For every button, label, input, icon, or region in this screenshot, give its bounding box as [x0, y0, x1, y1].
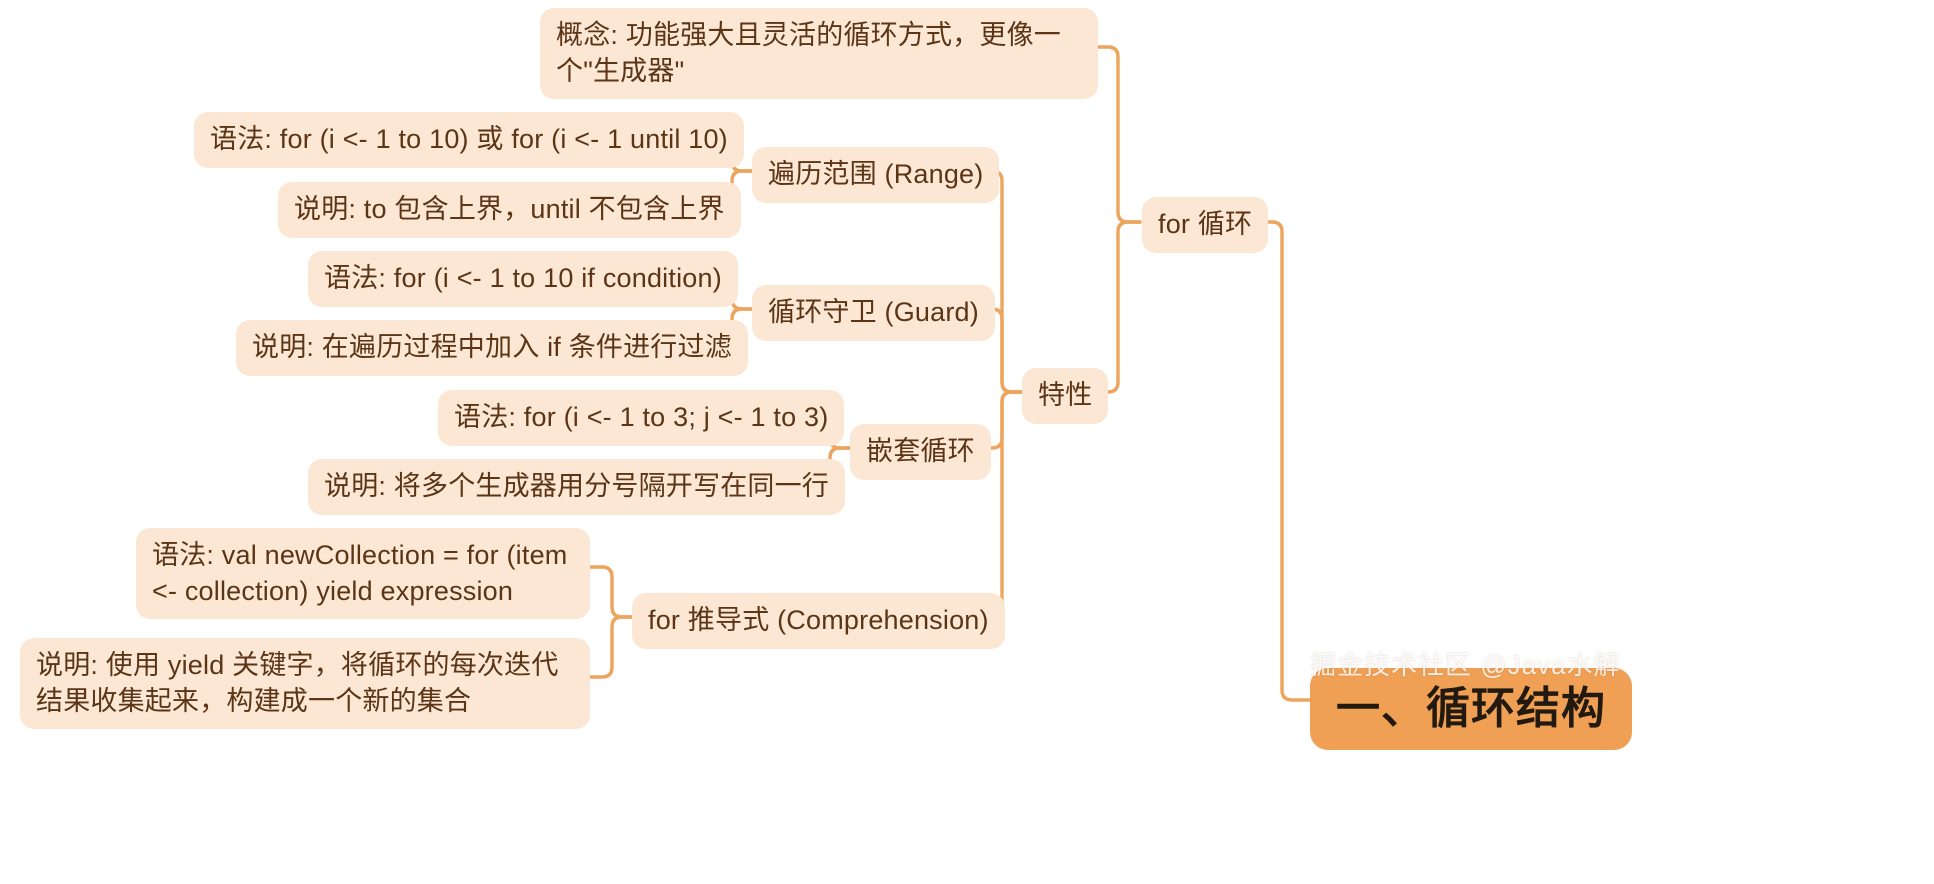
node-concept[interactable]: 概念: 功能强大且灵活的循环方式，更像一个"生成器": [540, 8, 1098, 99]
node-concept-label: 概念: 功能强大且灵活的循环方式，更像一个"生成器": [556, 18, 1082, 89]
node-range-syntax[interactable]: 语法: for (i <- 1 to 10) 或 for (i <- 1 unt…: [194, 112, 744, 168]
node-features-label: 特性: [1038, 378, 1092, 414]
node-guard-syntax-label: 语法: for (i <- 1 to 10 if condition): [324, 261, 722, 297]
node-comprehension-note-label: 说明: 使用 yield 关键字，将循环的每次迭代结果收集起来，构建成一个新的集…: [36, 648, 574, 719]
node-nested-note-label: 说明: 将多个生成器用分号隔开写在同一行: [324, 469, 829, 505]
node-nested-syntax[interactable]: 语法: for (i <- 1 to 3; j <- 1 to 3): [438, 390, 844, 446]
node-comprehension-label: for 推导式 (Comprehension): [648, 603, 989, 639]
node-comprehension-syntax[interactable]: 语法: val newCollection = for (item <- col…: [136, 528, 590, 619]
node-guard-syntax[interactable]: 语法: for (i <- 1 to 10 if condition): [308, 251, 738, 307]
node-for-loop-label: for 循环: [1158, 207, 1252, 243]
node-guard[interactable]: 循环守卫 (Guard): [752, 285, 995, 341]
node-guard-note[interactable]: 说明: 在遍历过程中加入 if 条件进行过滤: [236, 320, 748, 376]
node-for-loop[interactable]: for 循环: [1142, 197, 1268, 253]
node-comprehension[interactable]: for 推导式 (Comprehension): [632, 593, 1005, 649]
node-range-label: 遍历范围 (Range): [768, 157, 983, 193]
node-nested-syntax-label: 语法: for (i <- 1 to 3; j <- 1 to 3): [454, 400, 828, 436]
node-range[interactable]: 遍历范围 (Range): [752, 147, 999, 203]
node-nested-note[interactable]: 说明: 将多个生成器用分号隔开写在同一行: [308, 459, 845, 515]
node-features[interactable]: 特性: [1022, 368, 1108, 424]
mindmap-canvas: 一、循环结构 掘金技术社区 @Java水解 for 循环 概念: 功能强大且灵活…: [0, 0, 1934, 884]
node-comprehension-note[interactable]: 说明: 使用 yield 关键字，将循环的每次迭代结果收集起来，构建成一个新的集…: [20, 638, 590, 729]
node-guard-label: 循环守卫 (Guard): [768, 295, 979, 331]
node-range-syntax-label: 语法: for (i <- 1 to 10) 或 for (i <- 1 unt…: [210, 122, 728, 158]
root-node-label: 一、循环结构: [1336, 680, 1606, 738]
node-comprehension-syntax-label: 语法: val newCollection = for (item <- col…: [152, 538, 574, 609]
node-nested-loop-label: 嵌套循环: [866, 434, 975, 470]
node-range-note-label: 说明: to 包含上界，until 不包含上界: [294, 192, 725, 228]
node-nested-loop[interactable]: 嵌套循环: [850, 424, 991, 480]
node-range-note[interactable]: 说明: to 包含上界，until 不包含上界: [278, 182, 741, 238]
node-guard-note-label: 说明: 在遍历过程中加入 if 条件进行过滤: [252, 330, 732, 366]
root-node[interactable]: 一、循环结构: [1310, 668, 1632, 750]
